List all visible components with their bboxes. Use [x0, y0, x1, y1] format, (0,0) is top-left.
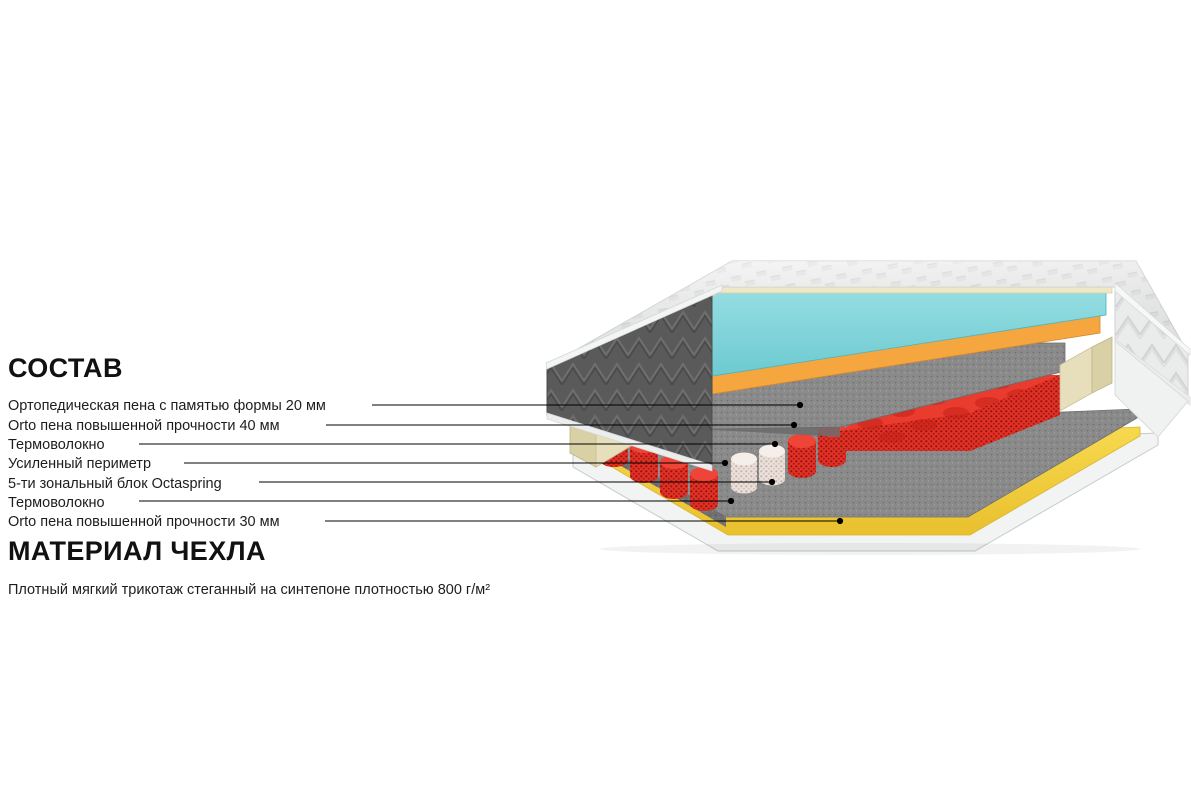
layer-label-thermo-fibre-bottom: Термоволокно	[8, 496, 105, 511]
page-title-composition: СОСТАВ	[8, 355, 123, 382]
layer-label-orto-foam-40: Orto пена повышенной прочности 40 мм	[8, 419, 280, 434]
layer-label-orto-foam-30: Orto пена повышенной прочности 30 мм	[8, 515, 280, 530]
layer-label-reinforced-perimeter: Усиленный периметр	[8, 457, 151, 472]
cover-material-description: Плотный мягкий трикотаж стеганный на син…	[8, 583, 490, 598]
layer-label-thermo-fibre-top: Термоволокно	[8, 438, 105, 453]
mattress-cutaway-illustration	[540, 255, 1191, 555]
layer-label-memory-foam: Ортопедическая пена с памятью формы 20 м…	[8, 399, 326, 414]
illustration-page: СОСТАВ Ортопедическая пена с памятью фор…	[0, 0, 1191, 794]
page-title-cover-material: МАТЕРИАЛ ЧЕХЛА	[8, 538, 266, 565]
layer-label-octaspring-block: 5-ти зональный блок Octaspring	[8, 477, 222, 492]
